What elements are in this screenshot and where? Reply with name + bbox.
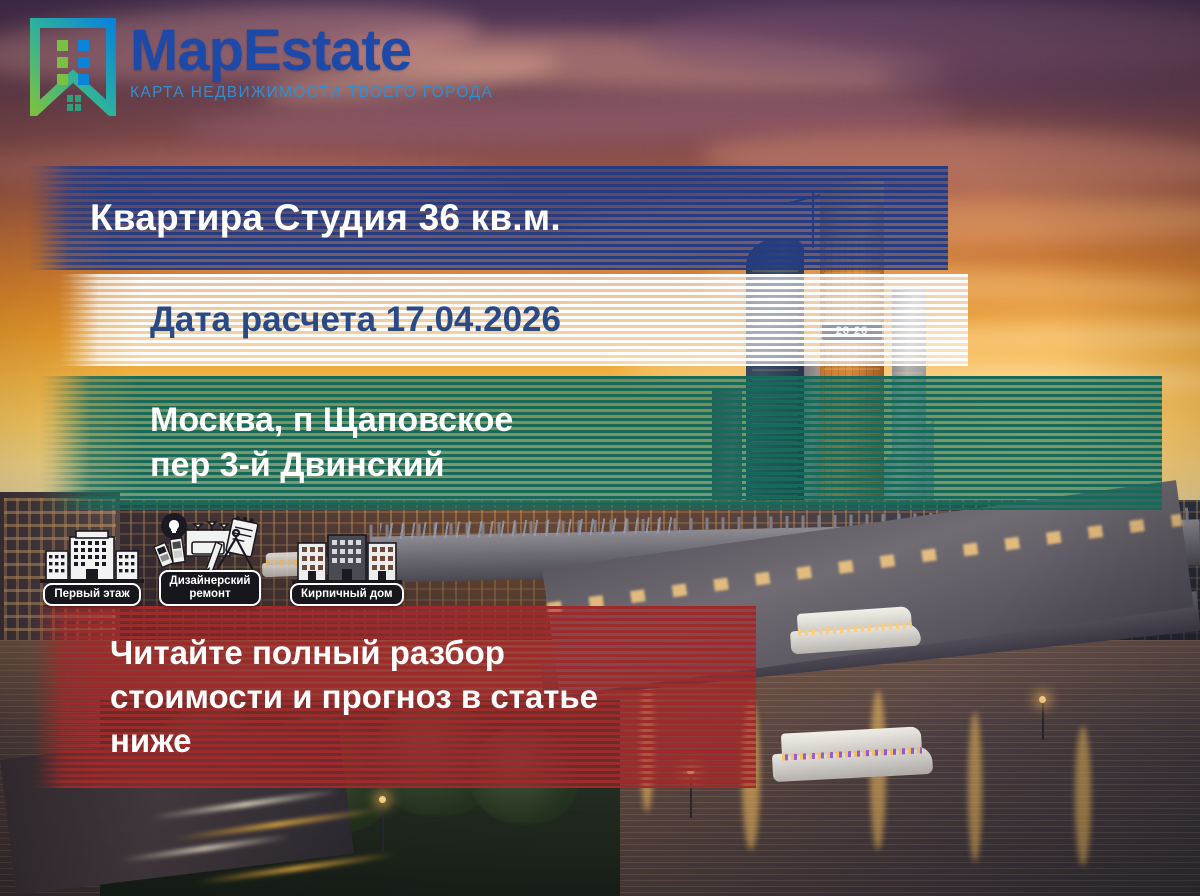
- cta-text: Читайте полный разбор стоимости и прогно…: [30, 631, 756, 763]
- brand-tagline: КАРТА НЕДВИЖИМОСТИ ТВОЕГО ГОРОДА: [130, 84, 493, 102]
- calculation-date-banner: Дата расчета 17.04.2026: [58, 274, 968, 366]
- feature-badges: Первый этаж: [40, 516, 404, 606]
- cta-banner[interactable]: Читайте полный разбор стоимости и прогно…: [30, 606, 756, 788]
- cta-line-2: стоимости и прогноз в статье: [110, 675, 756, 719]
- property-title-banner: Квартира Студия 36 кв.м.: [28, 166, 948, 270]
- calculation-date-text: Дата расчета 17.04.2026: [58, 300, 968, 340]
- cta-line-1: Читайте полный разбор: [110, 631, 756, 675]
- cta-line-3: ниже: [110, 719, 756, 763]
- badge-first-floor[interactable]: Первый этаж: [40, 529, 144, 606]
- address-line-1: Москва, п Щаповское: [150, 398, 1162, 443]
- address-line-2: пер 3-й Двинский: [150, 443, 1162, 488]
- brand-wordmark: MapEstate: [130, 22, 493, 80]
- badge-label: Первый этаж: [43, 583, 140, 606]
- listing-promo-card: 28 28: [0, 0, 1200, 896]
- brand-logo[interactable]: MapEstate КАРТА НЕДВИЖИМОСТИ ТВОЕГО ГОРО…: [30, 18, 493, 116]
- badge-label: Дизайнерский ремонт: [159, 570, 262, 606]
- address-banner: Москва, п Щаповское пер 3-й Двинский: [40, 376, 1162, 510]
- property-title-text: Квартира Студия 36 кв.м.: [28, 197, 948, 239]
- badge-designer-renovation[interactable]: Дизайнерский ремонт: [152, 516, 268, 606]
- badge-label: Кирпичный дом: [290, 583, 404, 606]
- address-text: Москва, п Щаповское пер 3-й Двинский: [40, 398, 1162, 488]
- office-building-icon: [40, 529, 144, 587]
- badge-brick-house[interactable]: Кирпичный дом: [290, 529, 404, 606]
- brick-house-icon: [292, 529, 402, 587]
- design-renovation-icon: [152, 516, 268, 574]
- river-boat: [771, 726, 933, 782]
- bookmark-building-icon: [30, 18, 116, 116]
